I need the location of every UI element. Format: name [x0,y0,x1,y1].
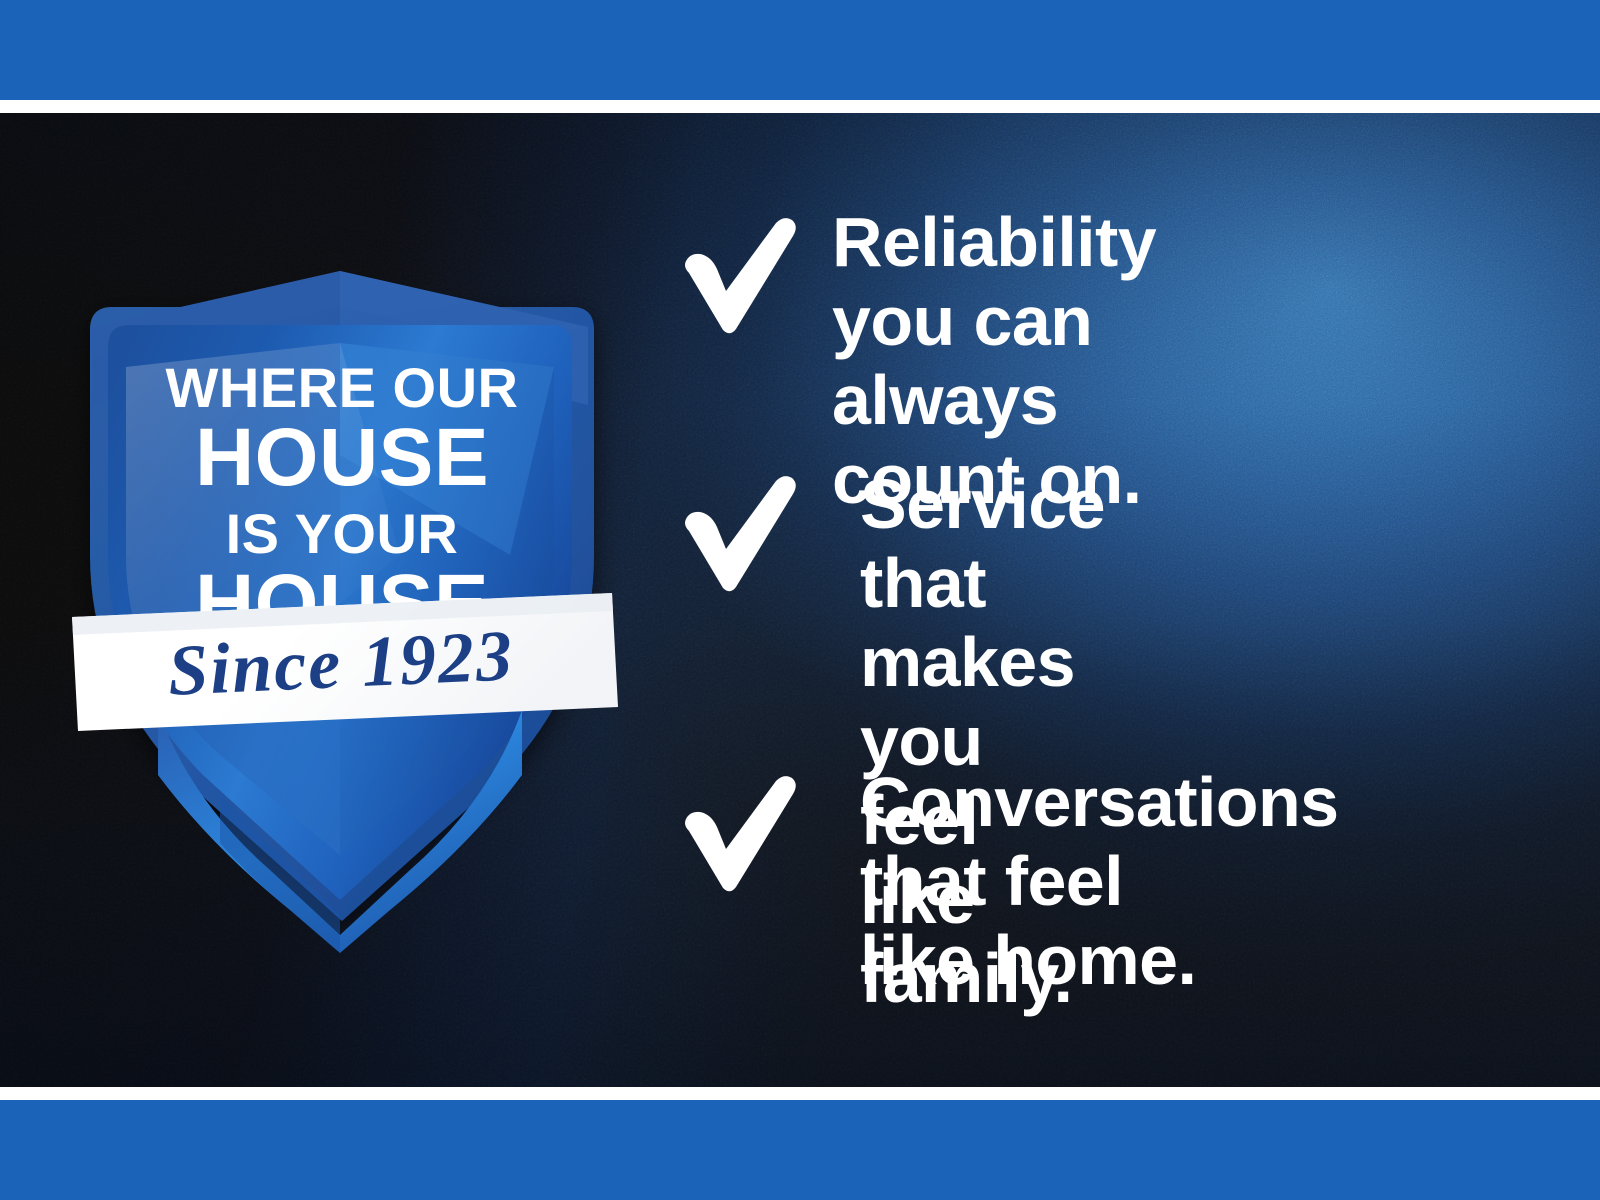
bottom-divider-rule [0,1087,1600,1100]
bottom-brand-bar [0,1100,1600,1200]
top-brand-bar [0,0,1600,100]
check-icon [664,771,794,891]
benefits-list: Reliability you can always count on. Ser… [0,113,1600,1087]
check-icon [664,213,794,333]
promo-banner: WHERE OUR HOUSE IS YOUR HOUSE Since 1923… [0,0,1600,1200]
top-divider-rule [0,100,1600,113]
list-item-text: Conversations that feel like home. [860,763,1338,1000]
check-icon [664,471,794,591]
